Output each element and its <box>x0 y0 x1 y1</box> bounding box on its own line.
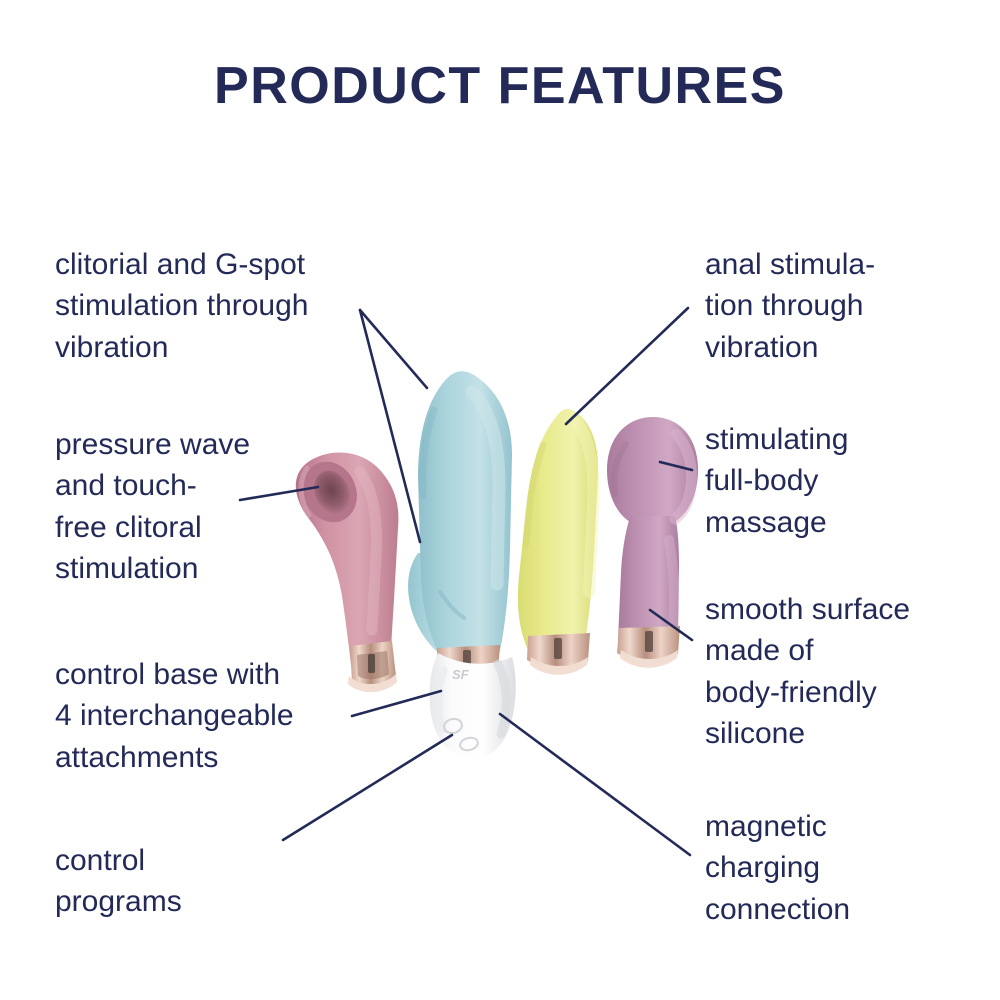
magnetic-connector <box>527 633 590 675</box>
feature-label-full-body-massage: stimulating full-body massage <box>705 419 975 543</box>
leader-line-magnetic <box>500 714 690 855</box>
feature-label-silicone-surface: smooth surface made of body-friendly sil… <box>705 589 980 755</box>
control-base: SF <box>430 653 516 758</box>
feature-label-pressure-wave: pressure wave and touch- free clitoral s… <box>55 424 305 590</box>
brand-mark: SF <box>452 667 470 682</box>
feature-label-control-programs: control programs <box>55 840 285 923</box>
feature-label-magnetic-charging: magnetic charging connection <box>705 806 975 930</box>
rabbit-attachment <box>408 371 512 685</box>
infographic-canvas: PRODUCT FEATURES <box>0 0 1000 1000</box>
g-spot-attachment <box>518 409 598 675</box>
leader-line-anal <box>566 308 688 424</box>
leader-line-control-base <box>352 691 441 716</box>
wand-massager-attachment <box>607 417 698 668</box>
feature-label-anal-stimulation: anal stimula- tion through vibration <box>705 244 975 368</box>
feature-label-control-base: control base with 4 interchangeable atta… <box>55 654 365 778</box>
magnetic-connector <box>617 626 680 668</box>
feature-label-clitoral-stimulation: clitorial and G-spot stimulation through… <box>55 244 375 368</box>
